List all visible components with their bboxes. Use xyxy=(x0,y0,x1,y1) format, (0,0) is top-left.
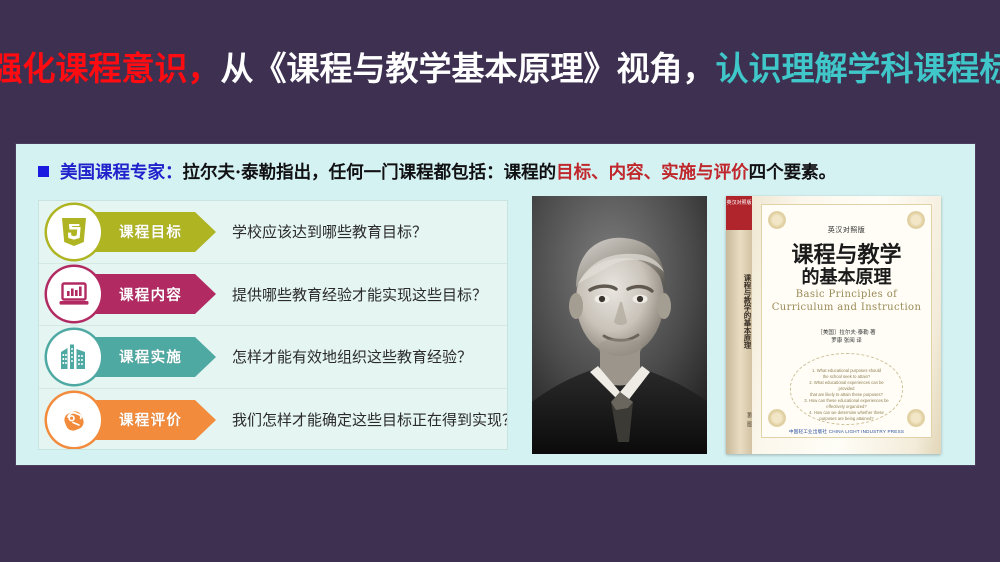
diagram-row-evaluation[interactable]: 课程评价 我们怎样才能确定这些目标正在得到实现？ xyxy=(39,389,507,451)
badge-label-evaluation: 课程评价 xyxy=(119,409,182,430)
book-spine-badge-text: 英汉对照版 xyxy=(726,196,752,206)
book-publisher: 中国轻工业出版社 CHINA LIGHT INDUSTRY PRESS xyxy=(762,429,931,435)
subtitle-part-red: 目标、内容、实施与评价 xyxy=(556,159,749,184)
badge-label-objectives: 课程目标 xyxy=(119,221,182,242)
book-spine-title: 课程与教学的基本原理 xyxy=(726,236,752,386)
book-english-line2: Curriculum and Instruction xyxy=(762,302,931,313)
subtitle-line: 美国课程专家： 拉尔夫·泰勒指出，任何一门课程都包括：课程的 目标、内容、实施与… xyxy=(38,156,968,186)
badge-label-implementation: 课程实施 xyxy=(119,346,182,367)
badge-evaluation: 课程评价 xyxy=(43,396,228,444)
badge-label-content: 课程内容 xyxy=(119,284,182,305)
rosette-icon xyxy=(907,409,925,427)
diagram-row-implementation[interactable]: 课程实施 xyxy=(39,326,507,389)
badge-implementation: 课程实施 xyxy=(43,333,228,381)
book-spine-subtitle: 第二版 xyxy=(726,396,752,442)
slide-root: 强化课程意识， 从《课程与教学基本原理》视角， 认识理解学科课程标准 美国课程专… xyxy=(0,0,1000,562)
rosette-icon xyxy=(768,409,786,427)
diagram-row-content[interactable]: 课程内容 提供哪 xyxy=(39,264,507,327)
portrait-container xyxy=(532,196,707,454)
book-cover-frame: 英汉对照版 课程与教学 的基本原理 Basic Principles of Cu… xyxy=(761,204,932,438)
shield-five-icon xyxy=(60,217,88,247)
question-evaluation: 我们怎样才能确定这些目标正在得到实现？ xyxy=(232,409,508,430)
icon-circle-evaluation xyxy=(47,393,101,447)
question-content: 提供哪些教育经验才能实现这些目标？ xyxy=(232,284,507,305)
portrait-image xyxy=(532,196,707,454)
subtitle-bullet-icon xyxy=(38,166,49,177)
badge-content: 课程内容 xyxy=(43,270,228,318)
icon-circle-content xyxy=(47,267,101,321)
curriculum-elements-card: 课程目标 学校应该达到哪些教育目标？ xyxy=(38,200,508,450)
icon-circle-objectives xyxy=(47,205,101,259)
book-oval-questions: 1. What educational purposes should the … xyxy=(791,354,902,422)
diagram-row-objectives[interactable]: 课程目标 学校应该达到哪些教育目标？ xyxy=(39,201,507,264)
book-cover-image: 英汉对照版 课程与教学的基本原理 第二版 英汉对照版 课 xyxy=(726,196,941,454)
book-english-line1: Basic Principles of xyxy=(762,289,931,300)
badge-objectives: 课程目标 xyxy=(43,208,228,256)
book-title-line2: 的基本原理 xyxy=(762,263,931,289)
book-spine-badge: 英汉对照版 xyxy=(726,196,752,230)
book-edition-badge: 英汉对照版 xyxy=(762,225,931,235)
title-segment-teal: 认识理解学科课程标准 xyxy=(716,52,1000,85)
title-segment-white: 从《课程与教学基本原理》视角， xyxy=(221,52,716,85)
book-oval-ornament: 1. What educational purposes should the … xyxy=(790,353,903,425)
panel-content: 课程目标 学校应该达到哪些教育目标？ xyxy=(16,194,975,459)
content-panel: 美国课程专家： 拉尔夫·泰勒指出，任何一门课程都包括：课程的 目标、内容、实施与… xyxy=(16,144,975,465)
subtitle-part-dark1: 拉尔夫·泰勒指出，任何一门课程都包括：课程的 xyxy=(183,159,557,184)
question-objectives: 学校应该达到哪些教育目标？ xyxy=(232,221,507,242)
buildings-icon xyxy=(59,343,89,371)
book-container: 英汉对照版 课程与教学的基本原理 第二版 英汉对照版 课 xyxy=(726,196,941,454)
laptop-chart-icon xyxy=(59,281,89,307)
book-front-cover: 英汉对照版 课程与教学 的基本原理 Basic Principles of Cu… xyxy=(752,196,941,454)
subtitle-part-dark2: 四个要素。 xyxy=(749,159,837,184)
page-title: 强化课程意识， 从《课程与教学基本原理》视角， 认识理解学科课程标准 xyxy=(0,52,1000,85)
question-implementation: 怎样才能有效地组织这些教育经验？ xyxy=(232,346,507,367)
icon-circle-implementation xyxy=(47,330,101,384)
title-segment-red: 强化课程意识， xyxy=(0,52,221,85)
hand-mouse-icon xyxy=(59,406,89,434)
subtitle-part-blue: 美国课程专家： xyxy=(60,159,183,184)
book-spine: 英汉对照版 课程与教学的基本原理 第二版 xyxy=(726,196,752,454)
ralph-tyler-portrait xyxy=(532,196,707,454)
book-authors: ［美国］拉尔夫·泰勒 著 罗康 张阅 译 xyxy=(762,329,931,345)
